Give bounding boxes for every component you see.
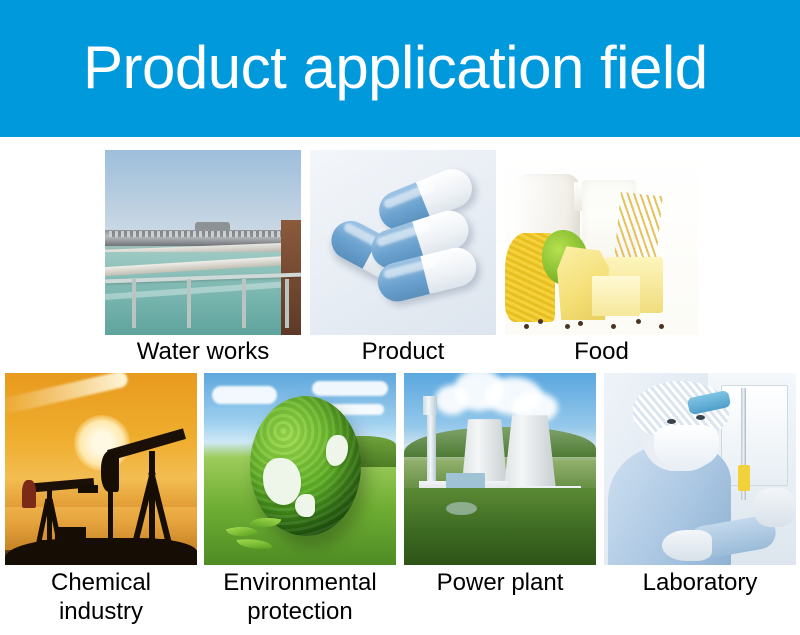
label-laboratory: Laboratory (604, 568, 796, 597)
environmental-protection-image (204, 373, 396, 565)
header-banner: Product application field (0, 0, 800, 137)
food-image (505, 150, 698, 335)
gallery-item-power-plant[interactable] (404, 373, 596, 565)
label-food: Food (505, 338, 698, 366)
power-plant-image (404, 373, 596, 565)
label-environmental-protection: Environmental protection (204, 568, 396, 626)
label-chemical-industry: Chemical industry (5, 568, 197, 626)
gallery-row-1-labels: Water works Product Food (0, 338, 800, 368)
label-water-works: Water works (105, 338, 301, 366)
gallery-item-product[interactable] (310, 150, 496, 335)
label-product: Product (310, 338, 496, 366)
product-capsules-image (310, 150, 496, 335)
label-line-2: protection (204, 597, 396, 626)
gallery-row-1 (0, 150, 800, 335)
label-line-1: Laboratory (604, 568, 796, 597)
gallery-item-food[interactable] (505, 150, 698, 335)
laboratory-image (604, 373, 796, 565)
gallery-row-2 (0, 373, 800, 565)
label-line-1: Power plant (404, 568, 596, 597)
chemical-industry-image (5, 373, 197, 565)
gallery-item-chemical-industry[interactable] (5, 373, 197, 565)
gallery-item-laboratory[interactable] (604, 373, 796, 565)
page-title: Product application field (83, 28, 708, 108)
label-power-plant: Power plant (404, 568, 596, 597)
water-works-image (105, 150, 301, 335)
gallery-row-2-labels: Chemical industry Environmental protecti… (0, 568, 800, 632)
gallery-item-water-works[interactable] (105, 150, 301, 335)
label-line-2: industry (5, 597, 197, 626)
gallery-item-environmental-protection[interactable] (204, 373, 396, 565)
application-field-poster: Product application field (0, 0, 800, 635)
label-line-1: Environmental (204, 568, 396, 597)
label-line-1: Chemical (5, 568, 197, 597)
